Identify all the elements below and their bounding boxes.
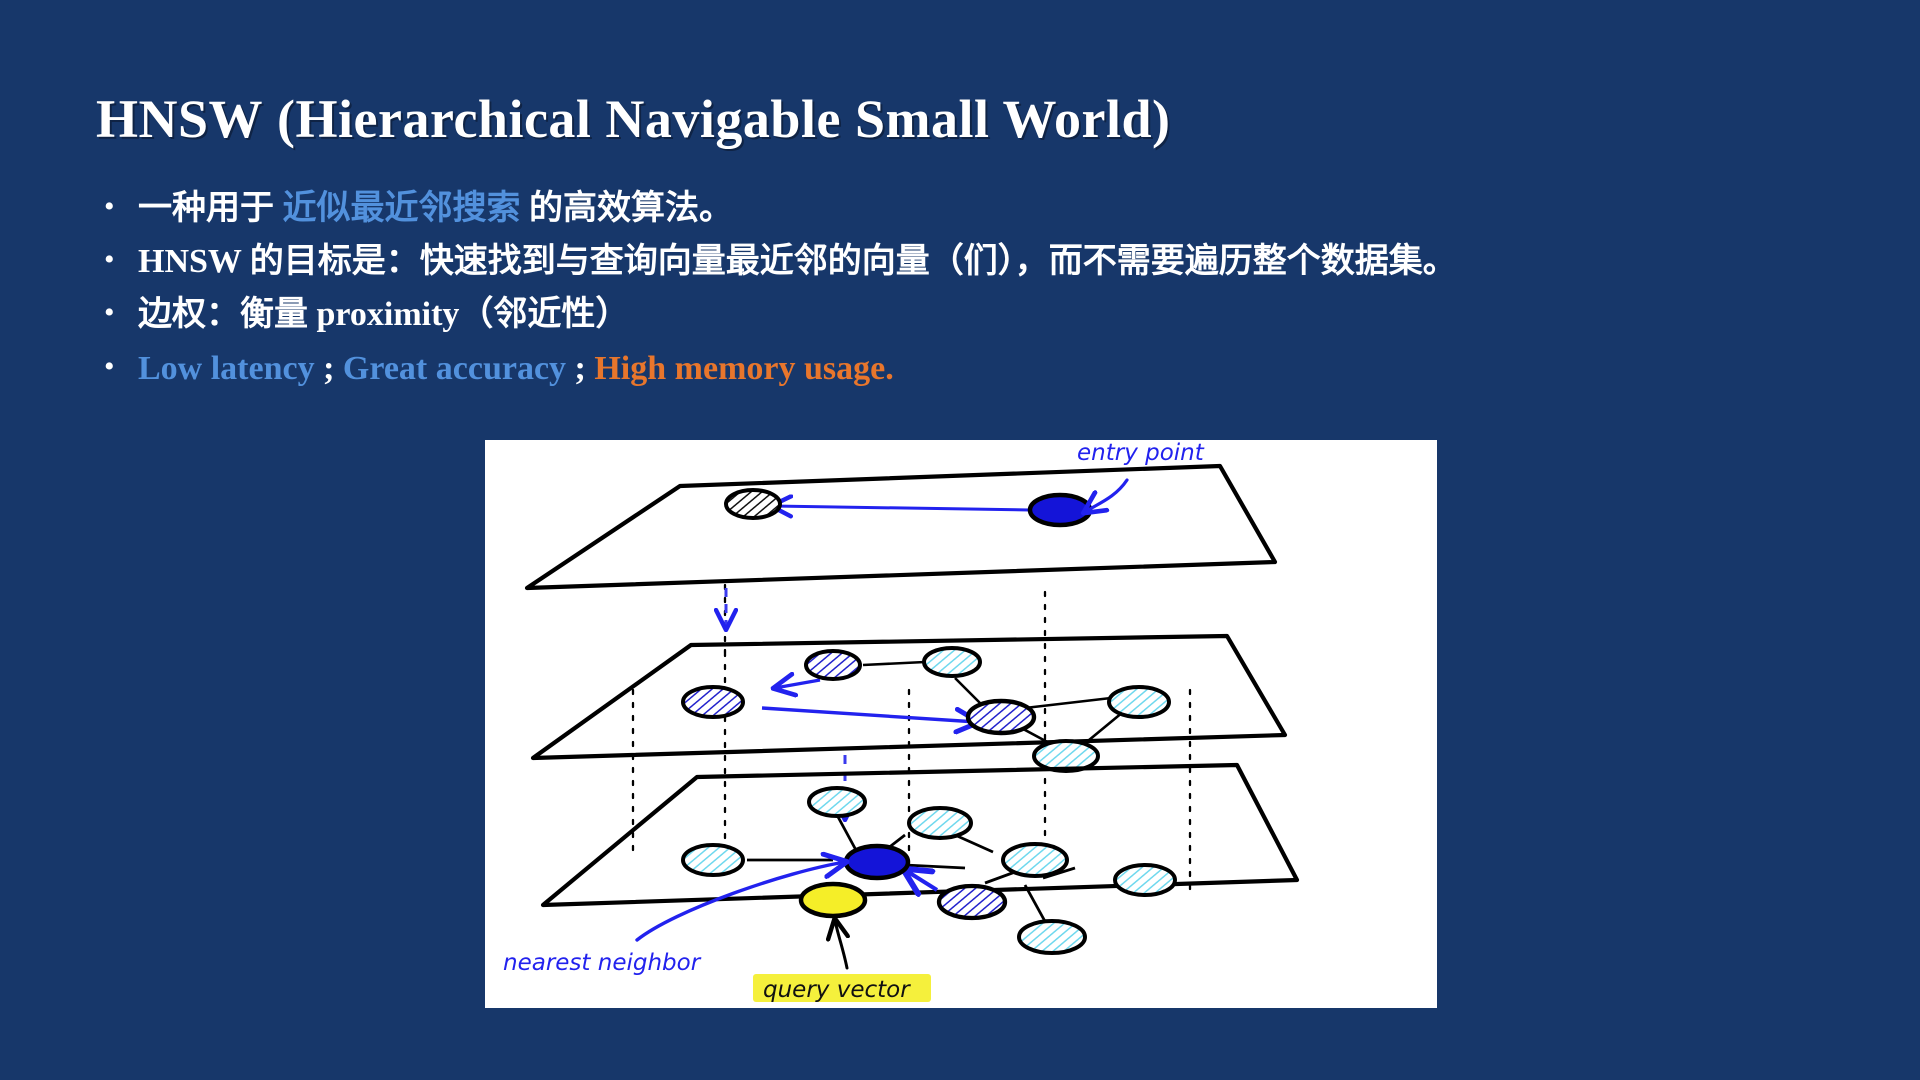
bullet-segment: HNSW 的目标是：快速找到与查询向量最近邻的向量（们），而不需要遍历整个数据集… (138, 243, 1457, 280)
bullet-marker-icon: • (104, 298, 138, 328)
graph-node-layer1-c (683, 687, 743, 717)
slide-root: HNSW(Hierarchical Navigable Small World)… (0, 0, 1920, 1080)
list-item: • HNSW 的目标是：快速找到与查询向量最近邻的向量（们），而不需要遍历整个数… (104, 239, 1864, 284)
bullet-text: HNSW 的目标是：快速找到与查询向量最近邻的向量（们），而不需要遍历整个数据集… (138, 239, 1864, 284)
graph-node-layer1-d (968, 701, 1034, 733)
bullet-marker-icon: • (104, 352, 138, 382)
query-vector-node (801, 884, 865, 916)
bullet-segment-low-latency: Low latency (138, 350, 315, 387)
graph-node-layer0-f (1115, 865, 1175, 895)
graph-node-layer0-a (809, 788, 865, 816)
entry-point-node (1030, 495, 1090, 525)
hnsw-diagram-panel: entry point (485, 440, 1437, 1008)
hnsw-diagram-svg: entry point (485, 440, 1437, 1008)
figure-background (485, 440, 1437, 1008)
bullet-text: 边权：衡量 proximity（邻近性） (138, 292, 1864, 337)
graph-node-layer1-b (924, 648, 980, 676)
list-item: • 一种用于 近似最近邻搜索 的高效算法。 (104, 186, 1864, 231)
graph-node-layer1-e (1109, 687, 1169, 717)
bullet-segment: 一种用于 (138, 190, 283, 227)
entry-point-label: entry point (1077, 440, 1205, 466)
bullet-marker-icon: • (104, 245, 138, 275)
page-title: HNSW(Hierarchical Navigable Small World) (96, 88, 1171, 150)
bullet-segment: ; (566, 350, 594, 387)
title-expansion: (Hierarchical Navigable Small World) (277, 89, 1170, 149)
bullet-segment: 边权：衡量 proximity（邻近性） (138, 296, 629, 333)
bullet-list: • 一种用于 近似最近邻搜索 的高效算法。 • HNSW 的目标是：快速找到与查… (104, 186, 1864, 399)
bullet-segment-high-memory: High memory usage. (594, 350, 893, 387)
graph-node-layer0-g (939, 886, 1005, 918)
list-item: • Low latency ; Great accuracy ; High me… (104, 346, 1864, 391)
nearest-neighbor-label: nearest neighbor (503, 950, 702, 976)
bullet-segment-highlight: 近似最近邻搜索 (283, 190, 521, 227)
bullet-segment-great-accuracy: Great accuracy (343, 350, 566, 387)
graph-node-layer0-c (683, 845, 743, 875)
bullet-text: 一种用于 近似最近邻搜索 的高效算法。 (138, 186, 1864, 231)
bullet-text: Low latency ; Great accuracy ; High memo… (138, 346, 1864, 391)
title-acronym: HNSW (96, 89, 263, 149)
bullet-segment: ; (315, 350, 343, 387)
graph-node-layer2-a (726, 490, 780, 518)
bullet-segment: 的高效算法。 (521, 190, 734, 227)
graph-node-layer0-h (1019, 921, 1085, 953)
query-vector-label: query vector (763, 977, 911, 1003)
graph-node-layer0-e (1003, 844, 1067, 876)
graph-node-layer0-b (909, 808, 971, 838)
bullet-marker-icon: • (104, 192, 138, 222)
graph-node-layer1-a (806, 651, 860, 679)
list-item: • 边权：衡量 proximity（邻近性） (104, 292, 1864, 337)
nearest-neighbor-node (846, 846, 908, 878)
